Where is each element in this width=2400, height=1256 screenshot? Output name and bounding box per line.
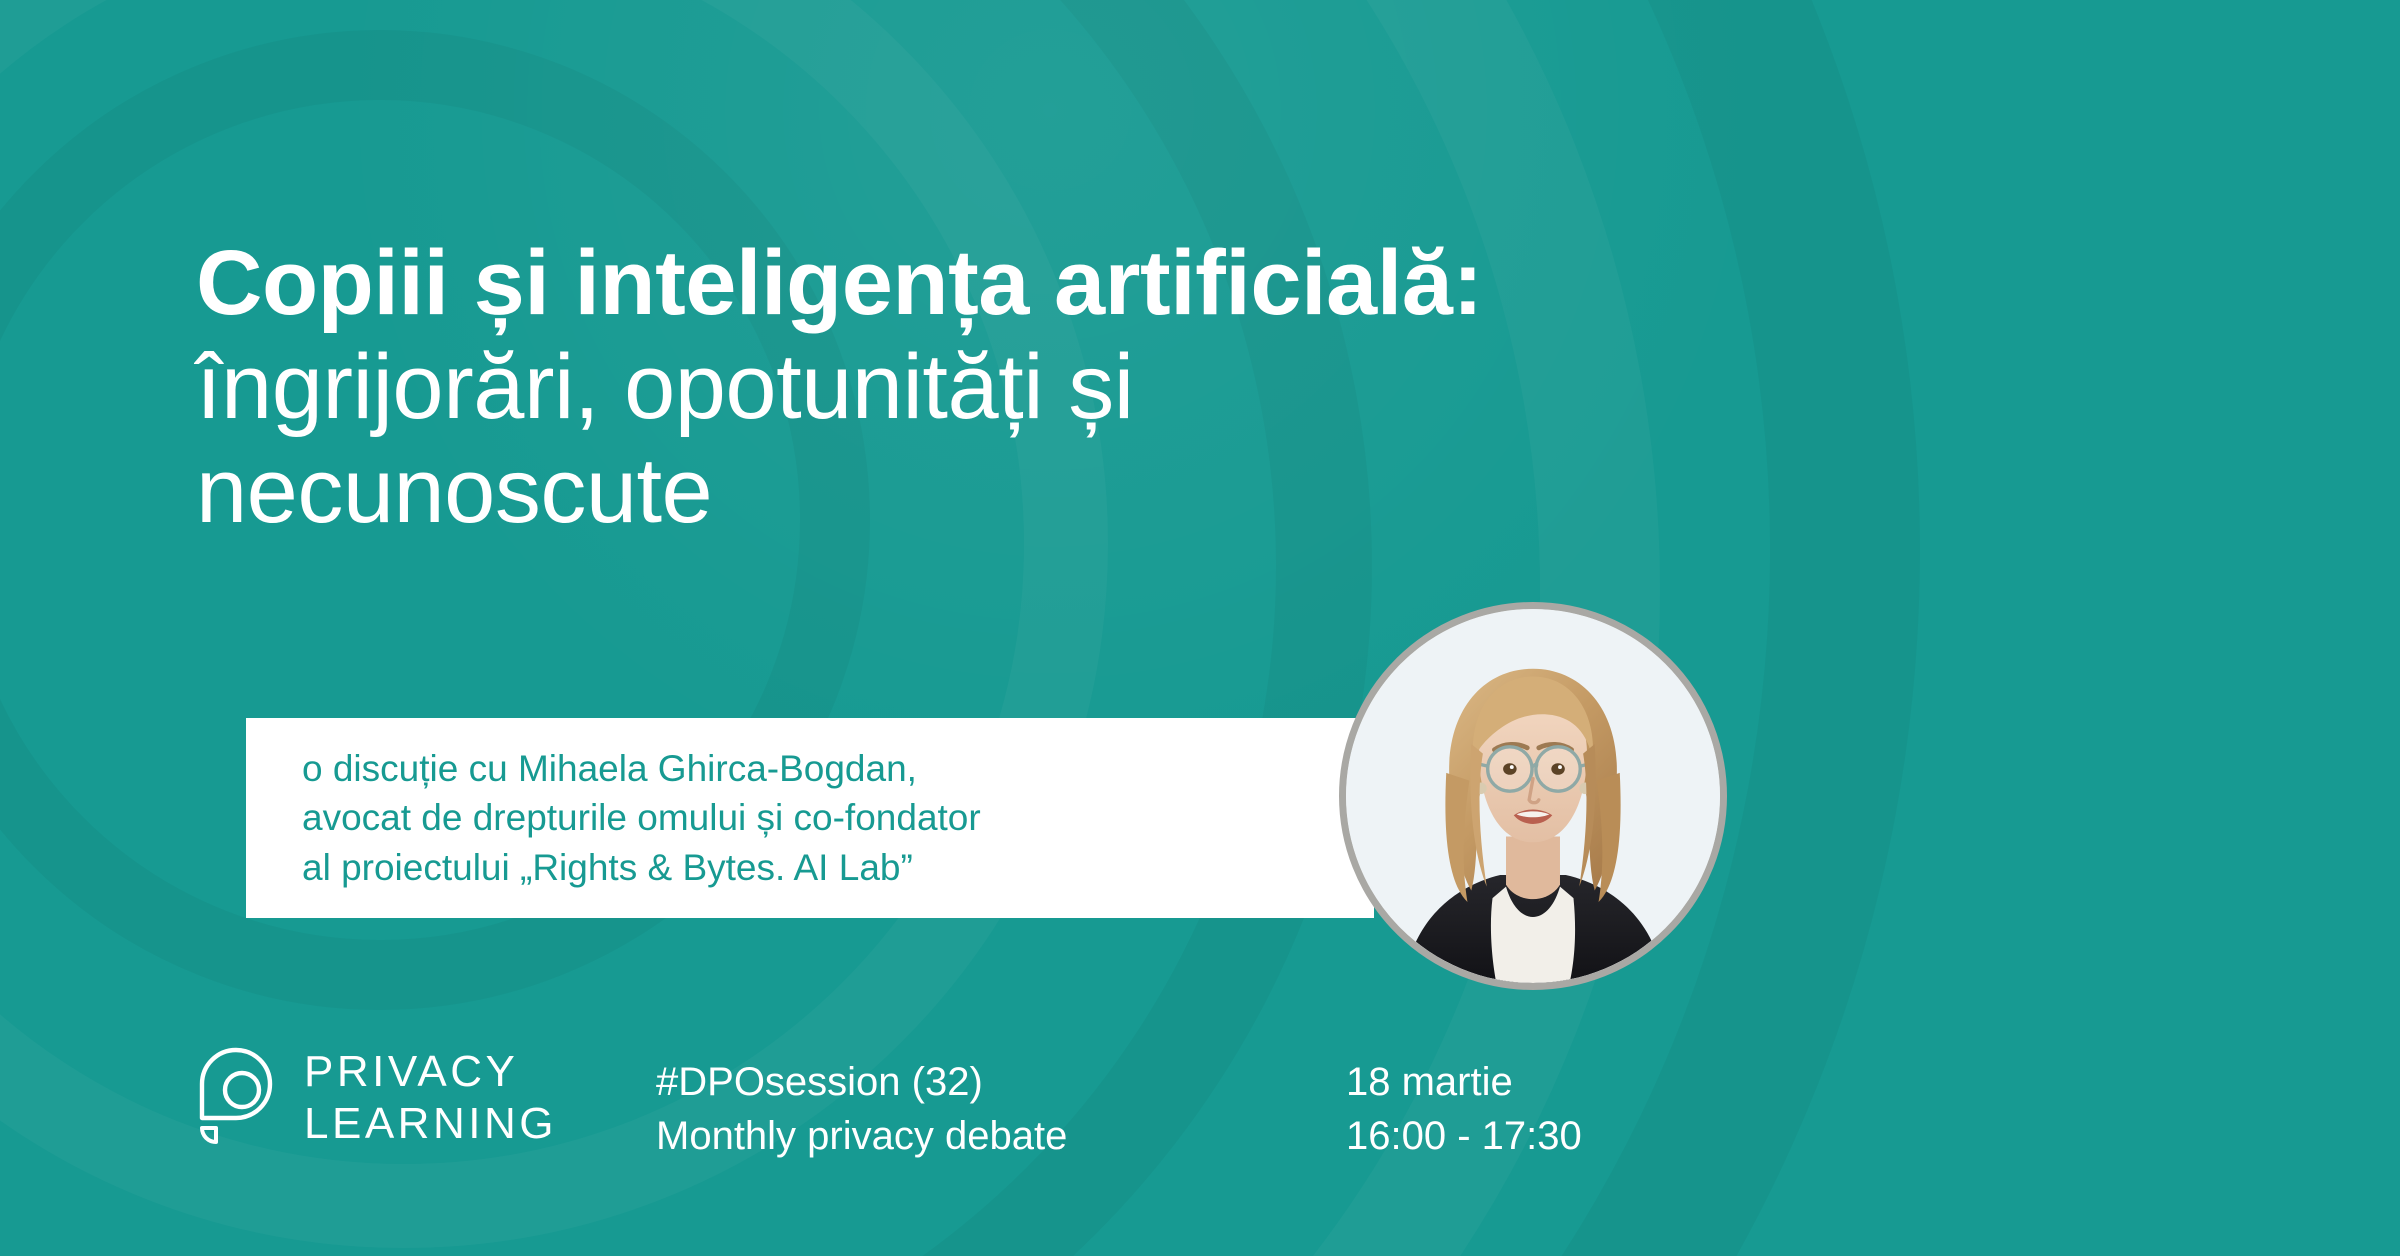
privacy-learning-p-logo-icon [196,1046,282,1150]
event-poster: Copiii și inteligența artificială: îngri… [0,0,2400,1256]
event-datetime: 18 martie 16:00 - 17:30 [1346,1046,1806,1163]
speaker-card: o discuție cu Mihaela Ghirca-Bogdan, avo… [246,718,1374,918]
speaker-portrait-avatar [1339,602,1727,990]
title-line-2: îngrijorări, opotunități și [196,336,1996,440]
session-hashtag: #DPOsession (32) [656,1056,1346,1110]
speaker-line-2: avocat de drepturile omului și co-fondat… [302,793,981,842]
brand-word-learning: LEARNING [304,1098,557,1150]
brand-logo: PRIVACY LEARNING [196,1046,656,1150]
speaker-line-1: o discuție cu Mihaela Ghirca-Bogdan, [302,744,981,793]
speaker-description: o discuție cu Mihaela Ghirca-Bogdan, avo… [302,744,981,892]
brand-wordmark: PRIVACY LEARNING [304,1046,557,1150]
event-time: 16:00 - 17:30 [1346,1110,1806,1164]
title-line-3: necunoscute [196,440,1996,544]
speaker-line-3: al proiectului „Rights & Bytes. AI Lab” [302,843,981,892]
session-subtitle: Monthly privacy debate [656,1110,1346,1164]
title-line-1: Copiii și inteligența artificială: [196,232,1996,336]
session-info: #DPOsession (32) Monthly privacy debate [656,1046,1346,1163]
event-date: 18 martie [1346,1056,1806,1110]
brand-word-privacy: PRIVACY [304,1046,557,1098]
page-title: Copiii și inteligența artificială: îngri… [196,232,1996,544]
footer: PRIVACY LEARNING #DPOsession (32) Monthl… [196,1046,1806,1163]
